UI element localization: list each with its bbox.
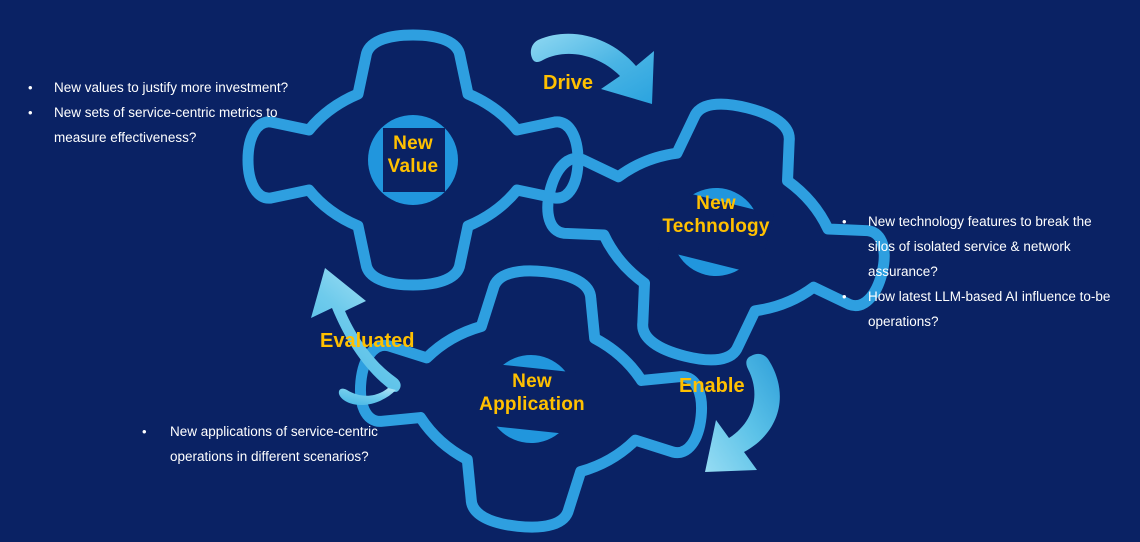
arrow-drive[interactable] [531, 34, 654, 104]
bullet-item: • New values to justify more investment? [28, 76, 328, 101]
bullet-dot-icon: • [28, 101, 54, 125]
bullet-dot-icon: • [842, 285, 868, 309]
bullet-dot-icon: • [28, 76, 54, 100]
gear-new-technology-mask [658, 189, 774, 274]
bullet-text: How latest LLM-based AI influence to-be … [868, 285, 1120, 335]
gear-new-application[interactable] [348, 254, 715, 542]
slide-canvas: New Value New Technology New Application… [0, 0, 1140, 542]
bullet-dot-icon: • [142, 420, 170, 444]
gear-new-value[interactable] [248, 35, 578, 285]
bullet-text: New applications of service-centric oper… [170, 420, 424, 470]
bullet-item: • New technology features to break the s… [842, 210, 1120, 285]
arrow-drive-shape [531, 34, 654, 104]
text-block-new-value: • New values to justify more investment?… [28, 76, 328, 151]
gear-new-value-mask [383, 128, 445, 192]
text-block-new-technology: • New technology features to break the s… [842, 210, 1120, 335]
arrow-evaluated-tail [339, 388, 396, 405]
bullet-item: • How latest LLM-based AI influence to-b… [842, 285, 1120, 335]
text-block-new-application: • New applications of service-centric op… [142, 420, 424, 470]
bullet-dot-icon: • [842, 210, 868, 234]
bullet-item: • New applications of service-centric op… [142, 420, 424, 470]
bullet-item: • New sets of service-centric metrics to… [28, 101, 328, 151]
arrow-enable[interactable] [705, 354, 780, 472]
bullet-text: New values to justify more investment? [54, 76, 328, 101]
bullet-text: New technology features to break the sil… [868, 210, 1120, 285]
gear-new-application-mask [476, 363, 586, 436]
arrow-enable-shape [705, 354, 780, 472]
bullet-text: New sets of service-centric metrics to m… [54, 101, 328, 151]
